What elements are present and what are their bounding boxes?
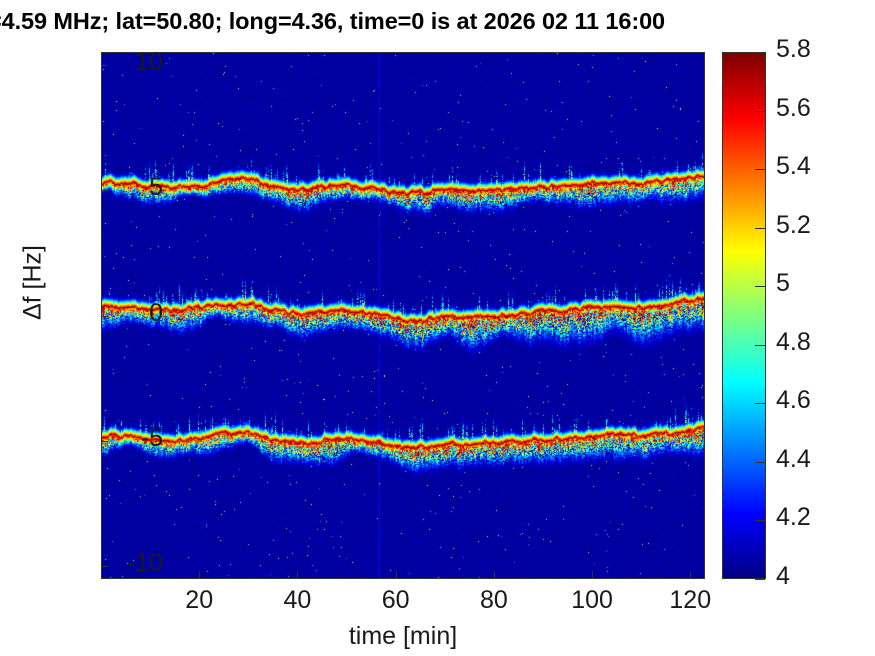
colorbar-tick-label: 5.8 xyxy=(776,35,811,64)
colorbar-tick-label: 5.4 xyxy=(776,152,811,181)
y-tick-mark xyxy=(101,65,108,66)
y-tick-mark xyxy=(101,566,108,567)
x-tick-label: 60 xyxy=(351,586,441,615)
x-tick-mark xyxy=(396,571,397,578)
colorbar-tick-mark xyxy=(755,345,765,346)
x-tick-label: 100 xyxy=(547,586,637,615)
spectrogram-figure: =4.59 MHz; lat=50.80; long=4.36, time=0 … xyxy=(0,0,875,656)
x-tick-label: 40 xyxy=(252,586,342,615)
colorbar-tick-mark xyxy=(755,228,765,229)
y-tick-mark xyxy=(101,441,108,442)
plot-area xyxy=(101,52,705,579)
x-tick-label: 20 xyxy=(154,586,244,615)
colorbar-tick-label: 5.6 xyxy=(776,94,811,123)
y-tick-mark xyxy=(101,316,108,317)
x-tick-label: 120 xyxy=(645,586,735,615)
x-tick-mark xyxy=(592,571,593,578)
y-tick-label: -5 xyxy=(141,424,163,453)
y-tick-label: -10 xyxy=(127,549,163,578)
spectrogram-image xyxy=(102,53,705,579)
y-tick-label: 10 xyxy=(135,48,163,77)
x-axis-label: time [min] xyxy=(101,622,705,651)
colorbar-tick-label: 5 xyxy=(776,269,790,298)
colorbar-tick-mark xyxy=(755,520,765,521)
y-tick-mark xyxy=(101,190,108,191)
colorbar-tick-label: 4.6 xyxy=(776,386,811,415)
colorbar-gradient xyxy=(723,53,766,579)
colorbar-tick-label: 4.4 xyxy=(776,445,811,474)
x-tick-mark xyxy=(494,571,495,578)
x-tick-mark xyxy=(297,571,298,578)
colorbar-tick-label: 4 xyxy=(776,562,790,591)
y-tick-label: 0 xyxy=(149,299,163,328)
colorbar-tick-label: 4.2 xyxy=(776,503,811,532)
colorbar-tick-mark xyxy=(755,111,765,112)
colorbar-tick-label: 5.2 xyxy=(776,211,811,240)
x-tick-mark xyxy=(199,571,200,578)
y-tick-label: 5 xyxy=(149,173,163,202)
x-tick-label: 80 xyxy=(449,586,539,615)
colorbar-tick-label: 4.8 xyxy=(776,328,811,357)
y-axis-label: Δf [Hz] xyxy=(19,203,48,363)
colorbar-tick-mark xyxy=(755,169,765,170)
colorbar xyxy=(722,52,766,579)
figure-title: =4.59 MHz; lat=50.80; long=4.36, time=0 … xyxy=(0,8,875,35)
colorbar-tick-mark xyxy=(755,286,765,287)
colorbar-tick-mark xyxy=(755,579,765,580)
colorbar-tick-mark xyxy=(755,462,765,463)
x-tick-mark xyxy=(690,571,691,578)
colorbar-tick-mark xyxy=(755,403,765,404)
